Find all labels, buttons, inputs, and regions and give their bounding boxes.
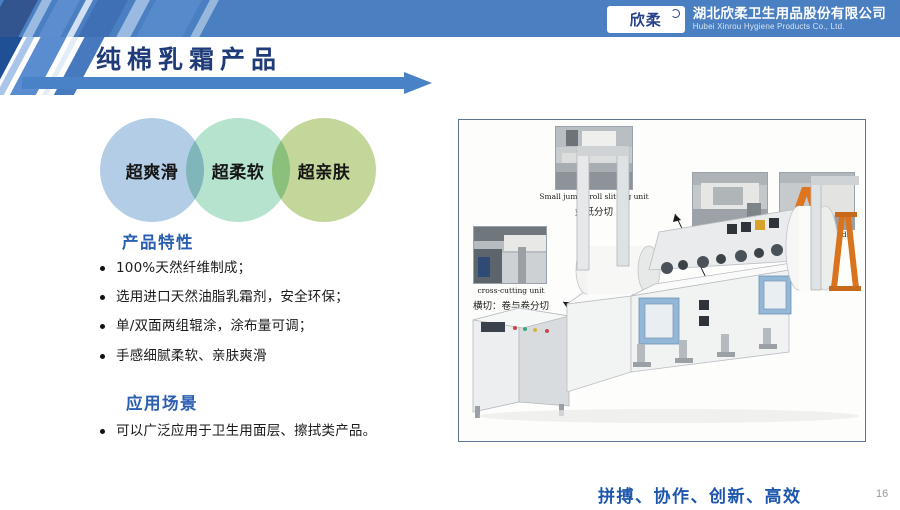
list-item: 可以广泛应用于卫生用面层、擦拭类产品。 [100,422,440,440]
slide-root: 欣柔 湖北欣柔卫生用品股份有限公司 Hubei Xinrou Hygiene P… [0,0,900,510]
bullet-dot-icon [100,429,105,434]
company-name-block: 湖北欣柔卫生用品股份有限公司 Hubei Xinrou Hygiene Prod… [693,7,886,32]
bullet-dot-icon [100,354,105,359]
machine-illustration [459,120,865,441]
list-item: 手感细腻柔软、亲肤爽滑 [100,347,430,365]
bullet-dot-icon [100,295,105,300]
list-item: 100%天然纤维制成； [100,259,430,277]
feature-text: 手感细腻柔软、亲肤爽滑 [116,347,267,365]
venn-diagram: 超爽滑 超柔软 超亲肤 [100,118,390,223]
application-text: 可以广泛应用于卫生用面层、擦拭类产品。 [116,422,376,440]
page-title: 纯棉乳霜产品 [96,40,282,76]
feature-text: 100%天然纤维制成； [116,259,251,277]
bullet-dot-icon [100,266,105,271]
feature-text: 选用进口天然油脂乳霜剂，安全环保； [116,288,349,306]
list-item: 单/双面两组辊涂，涂布量可调； [100,317,430,335]
page-number: 16 [876,488,888,500]
applications-list: 可以广泛应用于卫生用面层、擦拭类产品。 [100,422,440,451]
bullet-dot-icon [100,324,105,329]
brand-logo-icon: 欣柔 [607,6,685,33]
features-list: 100%天然纤维制成； 选用进口天然油脂乳霜剂，安全环保； 单/双面两组辊涂，涂… [100,259,430,376]
company-name-en: Hubei Xinrou Hygiene Products Co., Ltd. [693,23,886,31]
features-heading: 产品特性 [122,229,194,253]
feature-text: 单/双面两组辊涂，涂布量可调； [116,317,313,335]
list-item: 选用进口天然油脂乳霜剂，安全环保； [100,288,430,306]
machine-diagram-panel: Small jumbo roll slitting unit 盘纸分切 cros… [458,119,866,442]
header-bar: 欣柔 湖北欣柔卫生用品股份有限公司 Hubei Xinrou Hygiene P… [0,0,900,37]
venn-label-3: 超亲肤 [272,118,376,222]
applications-heading: 应用场景 [126,390,198,414]
title-arrow-icon [22,72,432,94]
company-name-cn: 湖北欣柔卫生用品股份有限公司 [693,7,886,21]
footer-slogan: 拼搏、协作、创新、高效 [598,482,802,507]
company-logo: 欣柔 湖北欣柔卫生用品股份有限公司 Hubei Xinrou Hygiene P… [607,3,886,35]
